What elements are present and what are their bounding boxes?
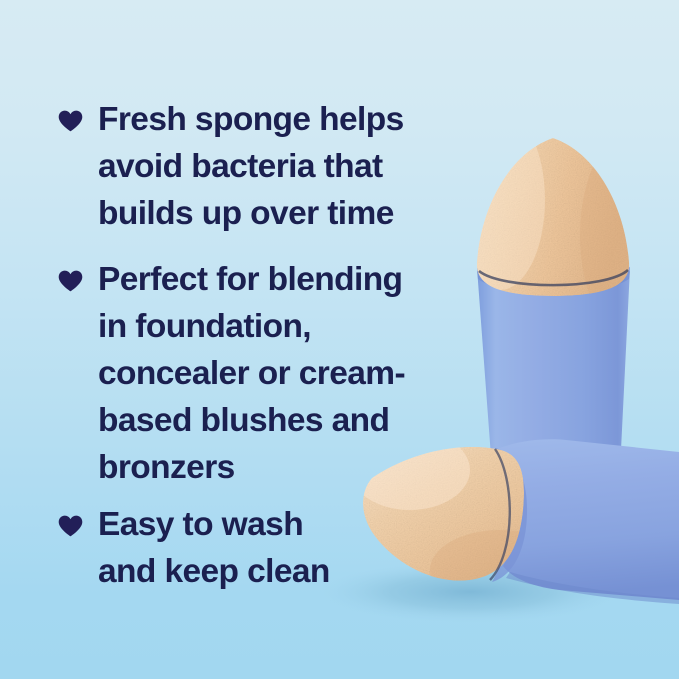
product-benefits-poster: Fresh sponge helps avoid bacteria that b… bbox=[0, 0, 679, 679]
benefit-item-fresh-sponge: Fresh sponge helps avoid bacteria that b… bbox=[58, 96, 404, 237]
benefit-text: Easy to wash and keep clean bbox=[98, 501, 330, 595]
benefit-text: Perfect for blending in foundation, conc… bbox=[98, 256, 405, 491]
heart-icon bbox=[58, 515, 84, 537]
benefits-list: Fresh sponge helps avoid bacteria that b… bbox=[0, 0, 470, 679]
benefit-text: Fresh sponge helps avoid bacteria that b… bbox=[98, 96, 404, 237]
heart-icon bbox=[58, 270, 84, 292]
benefit-item-perfect-for-blending: Perfect for blending in foundation, conc… bbox=[58, 256, 405, 491]
heart-icon bbox=[58, 110, 84, 132]
upright-sponge bbox=[455, 110, 679, 482]
benefit-item-easy-to-wash: Easy to wash and keep clean bbox=[58, 501, 330, 595]
